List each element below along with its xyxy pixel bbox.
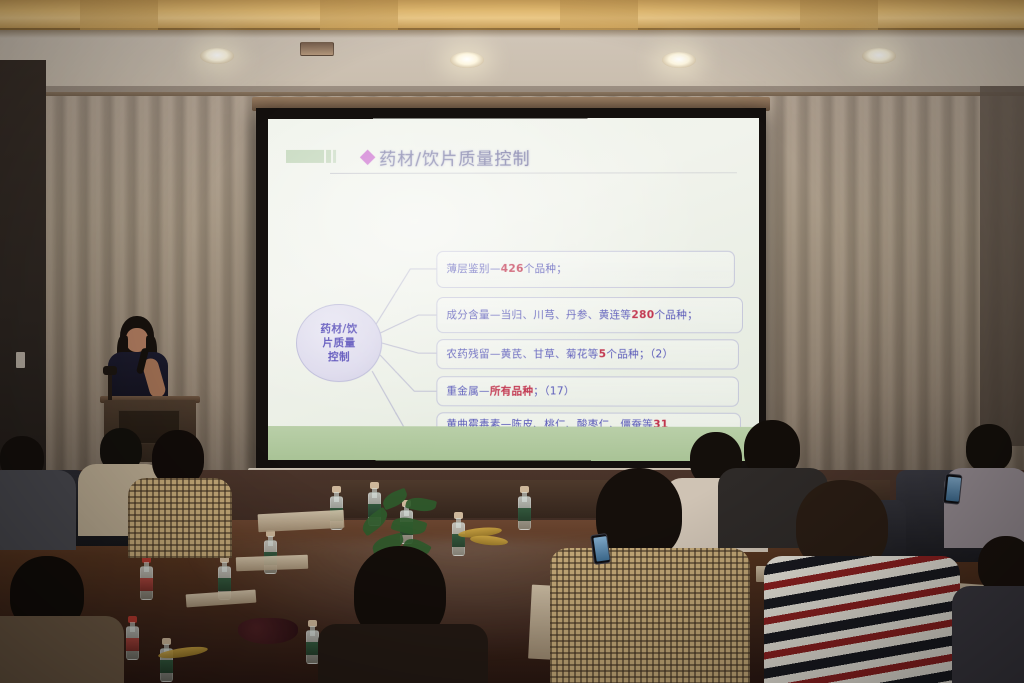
- water-bottle: [140, 556, 153, 600]
- connector-5: [372, 371, 436, 431]
- ceiling-vent-icon: [300, 42, 334, 56]
- node-text-segment: ；（17）: [533, 385, 574, 397]
- center-node-label: 药材/饮 片质量 控制: [320, 322, 357, 364]
- slide-footer-band: 中药: [268, 426, 759, 461]
- connector-1: [376, 269, 436, 324]
- mindmap-node-box: 成分含量—当归、川芎、丹参、黄连等280个品种；: [436, 297, 743, 333]
- node-text: 薄层鉴别—426个品种；: [446, 262, 567, 277]
- node-text-segment: 个品种；: [654, 309, 698, 321]
- center-node-line-3: 控制: [320, 350, 357, 364]
- node-text-segment: 成分含量—当归、川芎、丹参、黄连等: [446, 309, 631, 321]
- node-text-segment: 农药残留—黄芪、甘草、菊花等: [446, 348, 598, 360]
- microphone-head-icon: [103, 366, 117, 375]
- water-bottle: [518, 486, 531, 530]
- cove-notch: [800, 0, 878, 30]
- node-text: 成分含量—当归、川芎、丹参、黄连等280个品种；: [446, 308, 698, 323]
- document: [236, 555, 308, 572]
- ceiling-downlight: [450, 52, 484, 68]
- cove-notch: [560, 0, 638, 30]
- water-bottle: [126, 616, 139, 660]
- diamond-bullet-icon: [360, 150, 376, 166]
- node-text-segment: 个品种；: [524, 263, 568, 275]
- node-text-segment: 个品种；（2）: [606, 348, 673, 360]
- slide-title: 药材/饮片质量控制: [379, 144, 530, 169]
- node-text: 农药残留—黄芪、甘草、菊花等5个品种；（2）: [446, 347, 673, 362]
- slide-title-row: 药材/饮片质量控制: [286, 142, 741, 173]
- highlighted-value: 426: [501, 263, 524, 275]
- title-underline: [330, 172, 737, 174]
- center-node-line-2: 片质量: [320, 336, 357, 350]
- title-decoration-tick: [326, 150, 331, 163]
- ceiling-downlight: [200, 48, 234, 64]
- wall-panel-left: [0, 60, 46, 480]
- mindmap-node-box: 薄层鉴别—426个品种；: [436, 251, 735, 288]
- title-decoration-tick: [333, 150, 336, 163]
- cove-notch: [320, 0, 398, 30]
- ceiling-downlight: [862, 48, 896, 64]
- conference-room-scene: 药材/饮片质量控制 药材/饮 片质量 控制 薄层鉴别—426个品种；: [0, 0, 1024, 683]
- ceiling-downlight: [662, 52, 696, 68]
- node-text: 重金属—所有品种；（17）: [446, 384, 574, 399]
- highlighted-value: 所有品种: [490, 385, 533, 397]
- highlighted-value: 280: [631, 309, 654, 321]
- water-bottle: [160, 638, 173, 682]
- presentation-slide: 药材/饮片质量控制 药材/饮 片质量 控制 薄层鉴别—426个品种；: [268, 118, 759, 461]
- ceiling: [0, 0, 1024, 96]
- connector-4: [380, 355, 436, 391]
- connector-2: [380, 315, 436, 333]
- node-text-segment: 重金属—: [446, 385, 489, 397]
- microphone-stand: [108, 372, 112, 400]
- highlighted-value: 5: [599, 348, 607, 360]
- wall-panel-right: [980, 86, 1024, 446]
- smartphone[interactable]: [942, 473, 962, 505]
- connector-3: [382, 343, 436, 353]
- node-text-segment: 薄层鉴别—: [446, 263, 500, 275]
- mindmap-center-node: 药材/饮 片质量 控制: [296, 304, 382, 382]
- wall-switch-plate: [16, 352, 25, 368]
- center-node-line-1: 药材/饮: [320, 322, 357, 336]
- cove-notch: [80, 0, 158, 30]
- mindmap-node-box: 农药残留—黄芪、甘草、菊花等5个品种；（2）: [436, 339, 739, 369]
- title-decoration-bar: [286, 150, 324, 163]
- mindmap-node-box: 重金属—所有品种；（17）: [436, 376, 739, 407]
- grapes: [238, 618, 298, 644]
